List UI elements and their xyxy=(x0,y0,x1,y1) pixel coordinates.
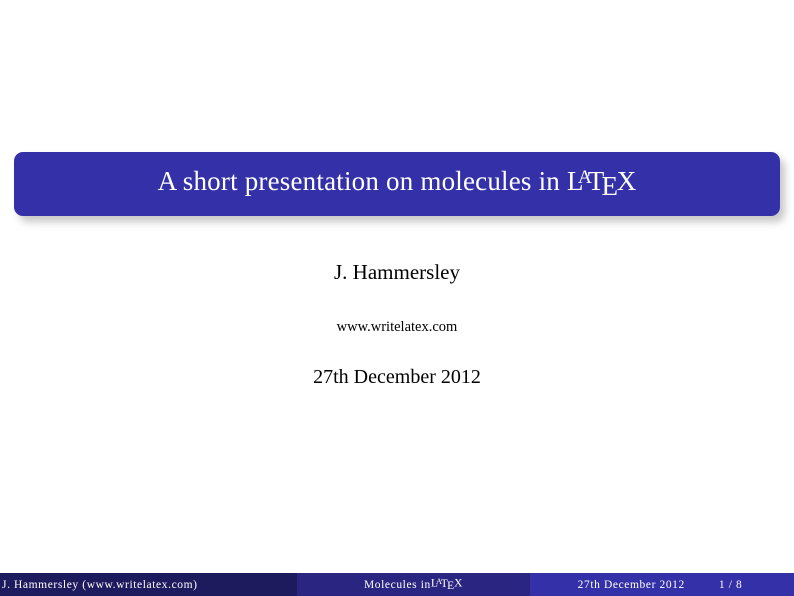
title-text-prefix: A short presentation on molecules in xyxy=(158,166,567,196)
latex-logo-x: X xyxy=(617,166,637,196)
slide-footer: J. Hammersley (www.writelatex.com) Molec… xyxy=(0,573,794,596)
footer-title-prefix: Molecules in xyxy=(364,579,431,591)
footer-date-page: 27th December 2012 1 / 8 xyxy=(530,573,794,596)
footer-latex-logo: LATEX xyxy=(431,577,463,592)
presentation-date: 27th December 2012 xyxy=(0,366,794,389)
footer-title: Molecules in LATEX xyxy=(297,573,530,596)
institute-url: www.writelatex.com xyxy=(0,319,794,336)
title-banner: A short presentation on molecules in LAT… xyxy=(14,152,780,216)
footer-page-number: 1 / 8 xyxy=(719,579,742,591)
presentation-slide: A short presentation on molecules in LAT… xyxy=(0,0,794,596)
title-block: A short presentation on molecules in LAT… xyxy=(14,152,780,216)
latex-logo-e: E xyxy=(601,171,618,201)
author-name: J. Hammersley xyxy=(0,260,794,285)
latex-logo: LATEX xyxy=(567,166,636,196)
footer-date: 27th December 2012 xyxy=(578,579,685,591)
footer-author: J. Hammersley (www.writelatex.com) xyxy=(0,573,297,596)
page-title: A short presentation on molecules in LAT… xyxy=(158,168,637,201)
footer-latex-logo-x: X xyxy=(454,578,463,590)
